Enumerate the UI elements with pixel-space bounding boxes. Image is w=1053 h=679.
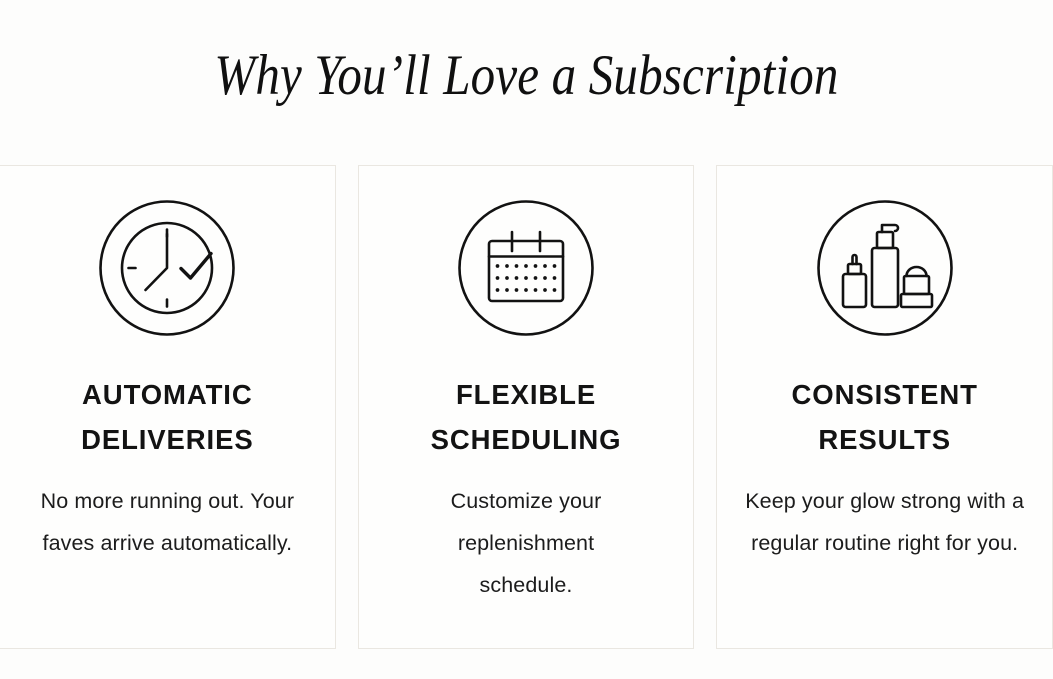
benefit-card-title: FLEXIBLE SCHEDULING <box>406 373 646 462</box>
clock-check-icon <box>98 199 236 337</box>
benefit-card-flexible-scheduling: FLEXIBLE SCHEDULING Customize your reple… <box>358 165 695 649</box>
benefit-card-row: AUTOMATIC DELIVERIES No more running out… <box>0 165 1053 649</box>
benefit-card-consistent-results: CONSISTENT RESULTS Keep your glow strong… <box>716 165 1053 649</box>
benefit-card-title: AUTOMATIC DELIVERIES <box>42 373 292 462</box>
benefit-card-body: Keep your glow strong with a regular rou… <box>735 480 1035 564</box>
benefit-card-title: CONSISTENT RESULTS <box>757 373 1012 462</box>
benefit-card-automatic-deliveries: AUTOMATIC DELIVERIES No more running out… <box>0 165 336 649</box>
benefit-card-body: Customize your replenishment schedule. <box>410 480 642 606</box>
calendar-icon <box>457 199 595 337</box>
skincare-products-icon <box>816 199 954 337</box>
page-title: Why You’ll Love a Subscription <box>74 47 980 104</box>
subscription-benefits-section: Why You’ll Love a Subscription <box>0 0 1053 679</box>
benefit-card-body: No more running out. Your faves arrive a… <box>19 480 315 564</box>
